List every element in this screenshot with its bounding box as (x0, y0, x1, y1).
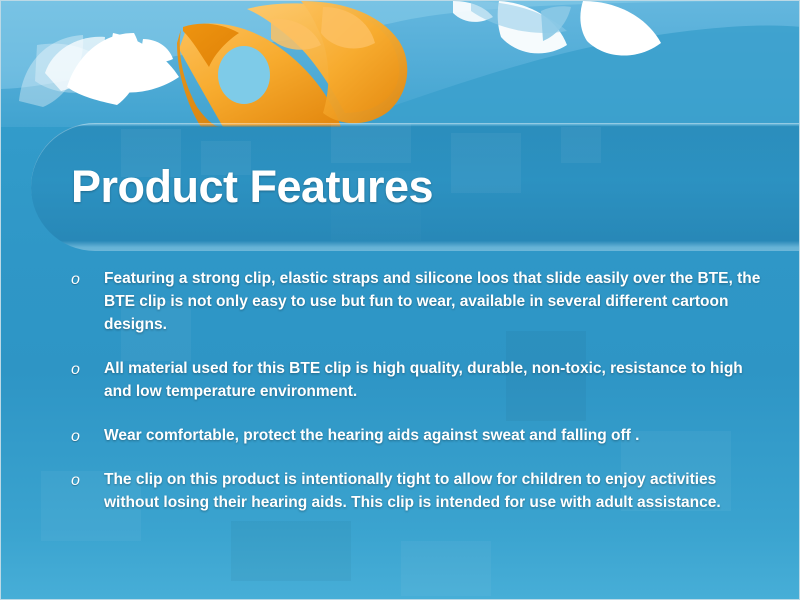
list-item: o The clip on this product is intentiona… (71, 468, 761, 514)
title-texture-patch (561, 127, 601, 163)
bullet-text: All material used for this BTE clip is h… (104, 357, 761, 403)
bullet-text: Featuring a strong clip, elastic straps … (104, 267, 761, 336)
bullet-marker-icon: o (71, 425, 104, 448)
slide-title: Product Features (71, 145, 433, 229)
header-decoration (1, 1, 800, 127)
list-item: o Wear comfortable, protect the hearing … (71, 424, 761, 447)
bullet-list: o Featuring a strong clip, elastic strap… (71, 267, 761, 535)
title-texture-patch (451, 133, 521, 193)
bullet-marker-icon: o (71, 358, 104, 381)
bullet-marker-icon: o (71, 268, 104, 291)
title-banner: Product Features (31, 123, 800, 251)
bullet-marker-icon: o (71, 469, 104, 492)
blue-circle-cutout (218, 46, 270, 104)
list-item: o All material used for this BTE clip is… (71, 357, 761, 403)
list-item: o Featuring a strong clip, elastic strap… (71, 267, 761, 336)
bullet-text: The clip on this product is intentionall… (104, 468, 761, 514)
slide-canvas: Product Features o Featuring a strong cl… (0, 0, 800, 600)
bullet-text: Wear comfortable, protect the hearing ai… (104, 424, 761, 447)
